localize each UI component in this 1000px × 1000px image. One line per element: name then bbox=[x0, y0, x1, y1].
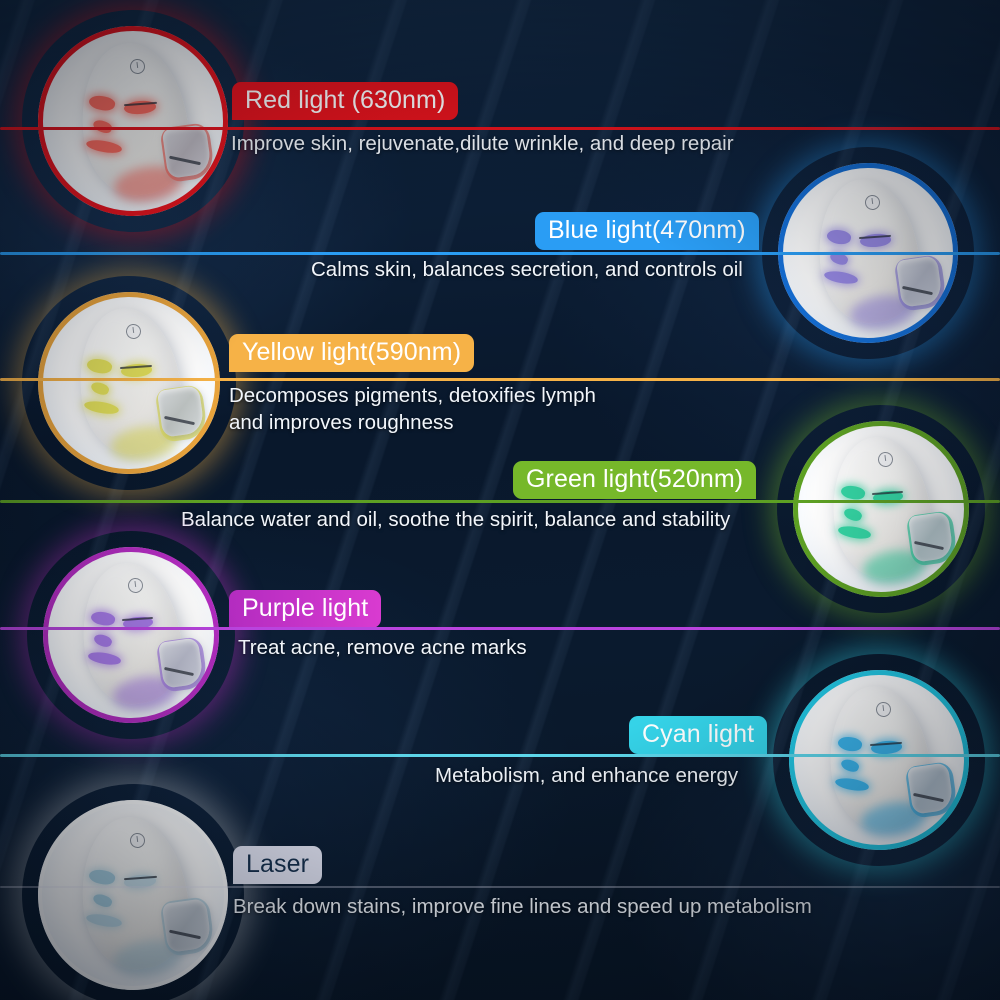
description-red: Improve skin, rejuvenate,dilute wrinkle,… bbox=[231, 130, 734, 157]
label-red: Red light (630nm) bbox=[232, 82, 458, 120]
divider-blue bbox=[0, 252, 1000, 255]
description-laser: Break down stains, improve fine lines an… bbox=[233, 893, 812, 920]
mask-photo-purple bbox=[43, 547, 219, 723]
description-green: Balance water and oil, soothe the spirit… bbox=[181, 506, 730, 533]
divider-laser bbox=[0, 886, 1000, 888]
label-purple: Purple light bbox=[229, 590, 381, 628]
mask-photo-laser bbox=[38, 800, 228, 990]
divider-cyan bbox=[0, 754, 1000, 757]
mask-ring-green bbox=[793, 421, 969, 597]
mask-photo-yellow bbox=[38, 292, 220, 474]
mask-ring-purple bbox=[43, 547, 219, 723]
divider-yellow bbox=[0, 378, 1000, 381]
description-purple: Treat acne, remove acne marks bbox=[238, 634, 527, 661]
mask-photo-cyan bbox=[789, 670, 969, 850]
mask-ring-cyan bbox=[789, 670, 969, 850]
mask-photo-green bbox=[793, 421, 969, 597]
description-yellow: Decomposes pigments, detoxifies lymph an… bbox=[229, 382, 596, 437]
description-blue: Calms skin, balances secretion, and cont… bbox=[311, 256, 743, 283]
divider-purple bbox=[0, 627, 1000, 630]
mask-photo-red bbox=[38, 26, 228, 216]
label-laser: Laser bbox=[233, 846, 322, 884]
mask-ring-laser bbox=[38, 800, 228, 990]
label-yellow: Yellow light(590nm) bbox=[229, 334, 474, 372]
label-cyan: Cyan light bbox=[629, 716, 767, 754]
mask-ring-red bbox=[38, 26, 228, 216]
description-cyan: Metabolism, and enhance energy bbox=[435, 762, 738, 789]
label-blue: Blue light(470nm) bbox=[535, 212, 759, 250]
infographic-poster: Red light (630nm) Improve skin, rejuvena… bbox=[0, 0, 1000, 1000]
mask-ring-yellow bbox=[38, 292, 220, 474]
divider-green bbox=[0, 500, 1000, 503]
label-green: Green light(520nm) bbox=[513, 461, 756, 499]
